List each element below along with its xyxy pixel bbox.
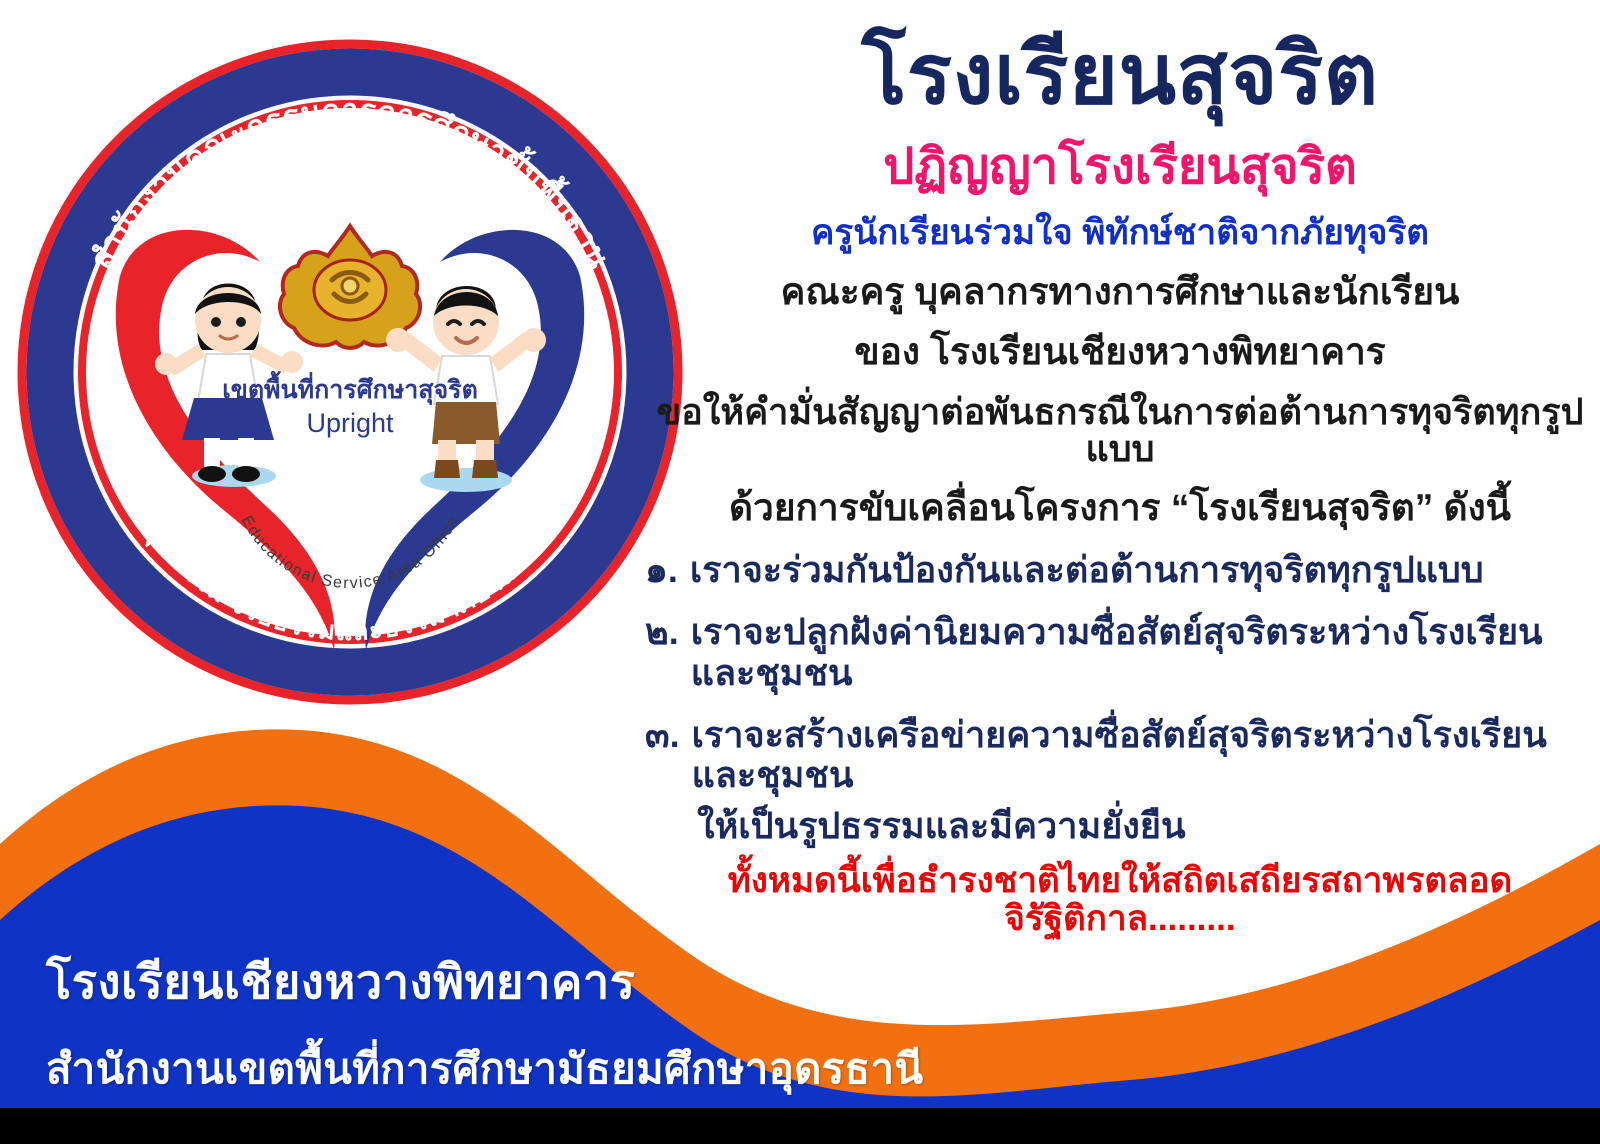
pledge-item: ๑. เราจะร่วมกันป้องกันและต่อต้านการทุจริ… — [645, 550, 1595, 590]
pledge-item: ๒. เราจะปลูกฝังค่านิยมความซื่อสัตย์สุจริ… — [645, 612, 1595, 693]
upright-school-emblem: สำนักงานคณะกรรมการการศึกษาขั้นพื้นฐาน โค… — [14, 38, 686, 706]
pledge-list: ๑. เราจะร่วมกันป้องกันและต่อต้านการทุจริ… — [645, 550, 1595, 796]
poster-root: โรงเรียนเชียงหวางพิทยาคาร สำนักงานเขตพื้… — [0, 0, 1600, 1144]
page-subtitle: ปฏิญญาโรงเรียนสุจริต — [645, 142, 1595, 193]
closing-statement: ทั้งหมดนี้เพื่อธำรงชาติไทยให้สถิตเสถียรส… — [645, 862, 1595, 938]
page-title: โรงเรียนสุจริต — [645, 32, 1595, 118]
tagline: ครูนักเรียนร่วมใจ พิทักษ์ชาติจากภัยทุจริ… — [645, 215, 1595, 252]
body-line-3: ขอให้คำมั่นสัญญาต่อพันธกรณีในการต่อต้านก… — [645, 393, 1595, 469]
bottom-banner: โรงเรียนเชียงหวางพิทยาคาร สำนักงานเขตพื้… — [46, 956, 1046, 1092]
pledge-text: เราจะสร้างเครือข่ายความซื่อสัตย์สุจริตระ… — [692, 715, 1595, 796]
content-column: โรงเรียนสุจริต ปฏิญญาโรงเรียนสุจริต ครูน… — [645, 16, 1595, 937]
pledge-number: ๒. — [645, 612, 679, 652]
pledge-number: ๑. — [645, 550, 678, 590]
emblem-center-english: Upright — [306, 408, 394, 438]
pledge-text: เราจะร่วมกันป้องกันและต่อต้านการทุจริตทุ… — [690, 550, 1595, 590]
emblem-center-thai: เขตพื้นที่การศึกษาสุจริต — [222, 370, 478, 406]
pledge-text: เราจะปลูกฝังค่านิยมความซื่อสัตย์สุจริตระ… — [691, 612, 1595, 693]
bottom-black-strip — [0, 1108, 1600, 1144]
pledge-continuation: ให้เป็นรูปธรรมและมีความยั่งยืน — [697, 806, 1595, 846]
pledge-item: ๓. เราจะสร้างเครือข่ายความซื่อสัตย์สุจริ… — [645, 715, 1595, 796]
banner-office-name: สำนักงานเขตพื้นที่การศึกษามัธยมศึกษาอุดร… — [46, 1045, 1046, 1092]
banner-school-name: โรงเรียนเชียงหวางพิทยาคาร — [46, 956, 1046, 1009]
body-line-1: คณะครู บุคลากรทางการศึกษาและนักเรียน — [645, 273, 1595, 312]
body-line-2: ของ โรงเรียนเชียงหวางพิทยาคาร — [645, 333, 1595, 372]
body-line-4: ด้วยการขับเคลื่อนโครงการ “โรงเรียนสุจริต… — [645, 489, 1595, 528]
pledge-number: ๓. — [645, 715, 680, 755]
